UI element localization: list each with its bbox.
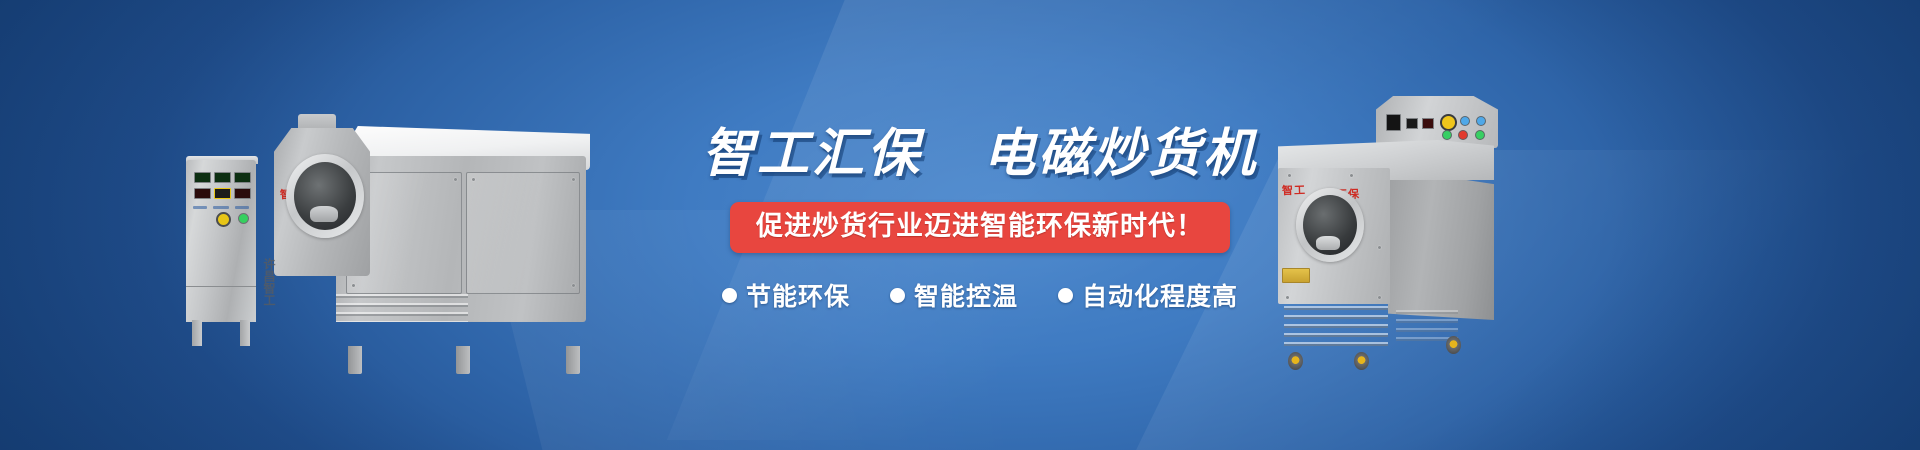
bullet-dot-icon [890,288,905,303]
roaster-left-side-text: 许昌智工 [260,258,276,306]
roaster-right-led-red [1458,130,1468,140]
headline-product: 电磁炒货机 [983,125,1258,183]
roaster-left-foot-2 [456,346,470,374]
roaster-right-drum-opening [1296,188,1364,262]
bullet-dot-icon [722,288,737,303]
roaster-right-caster-1 [1288,352,1303,370]
roaster-left-foot-3 [566,346,580,374]
banner-copy-block: 智工汇保 电磁炒货机 促进炒货行业迈进智能环保新时代！ 节能环保 智能控温 自动… [700,128,1260,313]
roaster-right-led-green-1 [1442,130,1452,140]
feature-label-2: 智能控温 [914,277,1018,313]
roaster-right-vent-grille [1284,306,1388,350]
roaster-left-display-6 [234,188,251,199]
banner-feature-list: 节能环保 智能控温 自动化程度高 [700,277,1260,313]
roaster-right-drum-interior [1316,236,1340,250]
roaster-right-caster-2 [1354,352,1369,370]
roaster-left-foot-1 [348,346,362,374]
roaster-right-emergency-stop[interactable] [1440,114,1457,131]
roaster-left-drum-opening [286,154,364,238]
roaster-right-led-green-2 [1475,130,1485,140]
banner-ribbon-wrapper: 促进炒货行业迈进智能环保新时代！ [700,202,1260,253]
roaster-right-display-b [1422,118,1434,129]
roaster-right-led-blue-1 [1460,116,1470,126]
roaster-left-drum-interior [310,206,338,222]
promo-banner: 智工 汇保 许昌智工 [0,0,1920,450]
roaster-left-display-1 [194,172,211,183]
roaster-right-side-panel [1388,162,1494,320]
banner-headline: 智工汇保 电磁炒货机 [700,128,1260,180]
feature-label-1: 节能环保 [746,277,850,313]
bullet-dot-icon [1058,288,1073,303]
feature-item-2: 智能控温 [890,277,1018,313]
roaster-left-indicator-led [238,213,249,224]
roaster-right-led-blue-2 [1476,116,1486,126]
feature-item-3: 自动化程度高 [1058,277,1238,313]
headline-brand: 智工汇保 [702,125,922,183]
roaster-right-display-main [1386,114,1401,131]
product-image-left-roaster: 智工 汇保 许昌智工 [186,108,586,348]
product-image-right-roaster: 智工 汇保 [1278,96,1518,368]
roaster-right-display-a [1406,118,1418,129]
roaster-left-display-4 [194,188,211,199]
roaster-left-display-2 [214,172,231,183]
roaster-left-vent-grille [336,294,468,322]
roaster-left-selector-knob[interactable] [216,212,231,227]
roaster-left-display-5 [214,188,231,199]
banner-ribbon-slogan: 促进炒货行业迈进智能环保新时代！ [730,202,1230,253]
roaster-left-door-2 [466,172,580,294]
roaster-left-display-3 [234,172,251,183]
brand-mark-right-1: 智工 [1282,182,1307,199]
feature-label-3: 自动化程度高 [1082,277,1238,313]
roaster-left-control-cabinet [186,160,256,322]
feature-item-1: 节能环保 [722,277,850,313]
roaster-right-caster-3 [1446,336,1461,354]
roaster-right-nameplate [1282,268,1310,283]
